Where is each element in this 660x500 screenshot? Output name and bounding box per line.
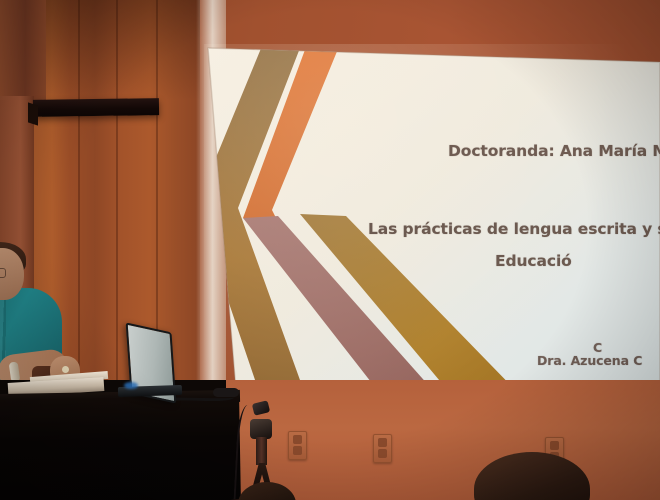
slide-title-line-2: Educació xyxy=(495,252,572,270)
tripod-neck xyxy=(256,437,267,465)
laptop-indicator-light xyxy=(124,382,138,389)
wall-outlet xyxy=(373,434,392,463)
curtain xyxy=(0,0,46,100)
cable-connector xyxy=(213,388,239,397)
shelf-edge xyxy=(28,102,38,125)
presentation-photo-scene: Doctoranda: Ana María Mer Las prácticas … xyxy=(0,0,660,500)
slide-title-line-1: Las prácticas de lengua escrita y su ev xyxy=(368,220,660,238)
wall-outlet xyxy=(288,431,307,460)
slide-director-1: Dra. Azucena C xyxy=(537,353,642,368)
dark-shelf-bar xyxy=(33,98,159,117)
glasses-icon xyxy=(0,268,6,278)
table-cloth xyxy=(0,396,241,500)
slide-author-line: Doctoranda: Ana María Mer xyxy=(448,142,660,160)
tripod-camera xyxy=(250,419,272,439)
ring xyxy=(62,366,69,373)
